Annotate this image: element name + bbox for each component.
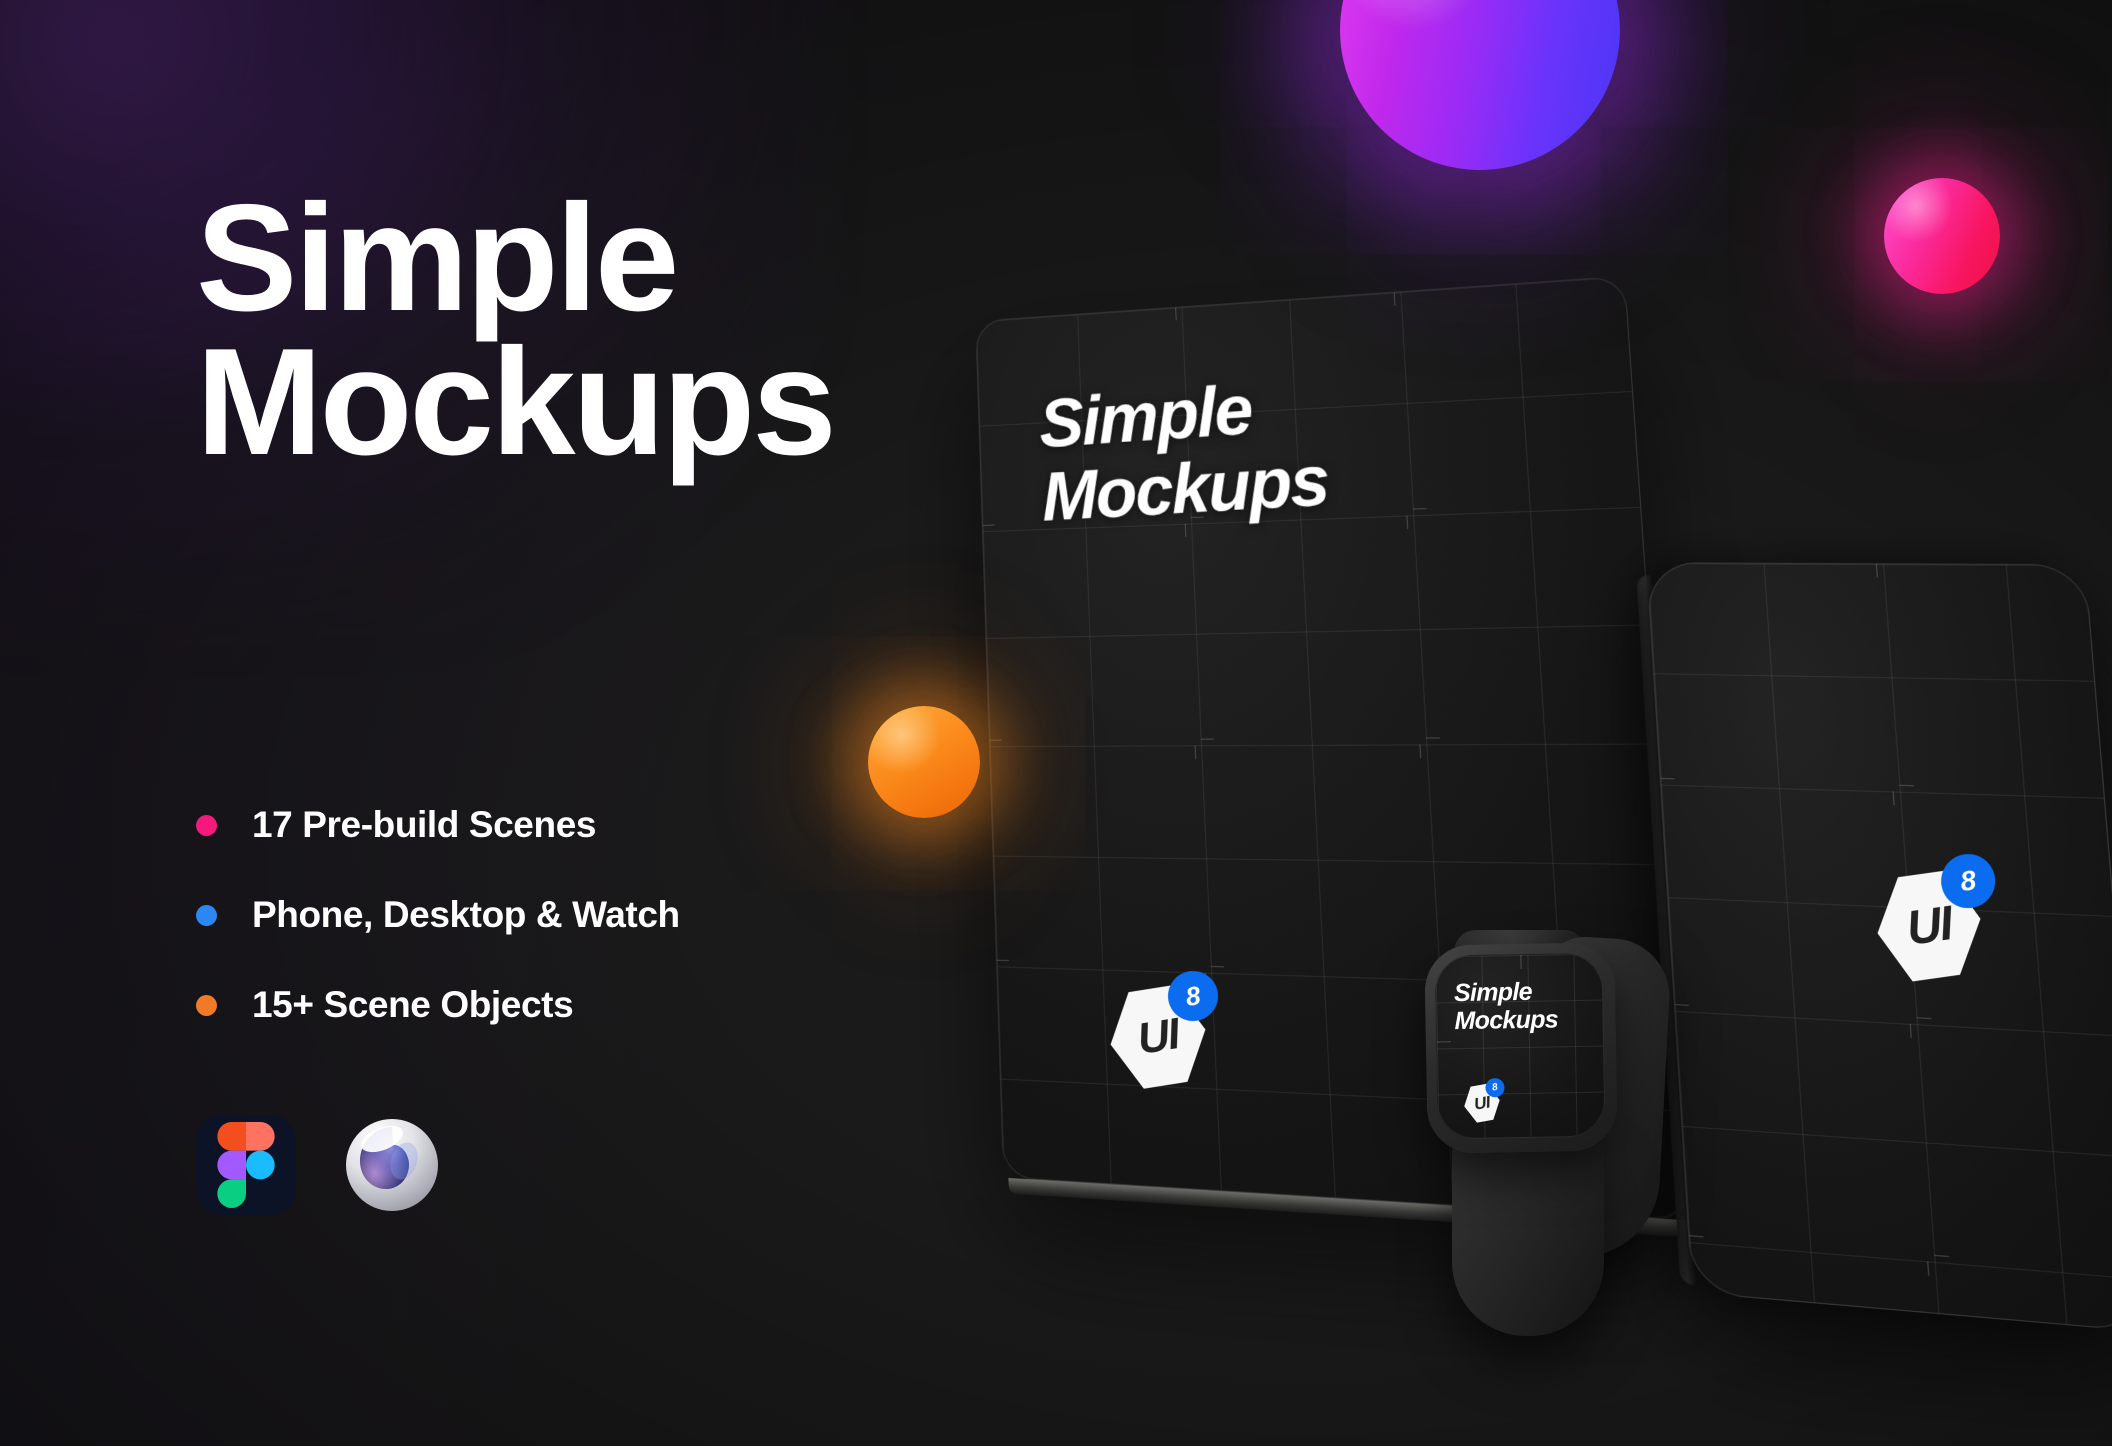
desktop-screen-label: Simple Mockups	[1038, 368, 1330, 535]
ui8-logo-desktop: UI 8	[1102, 978, 1213, 1096]
watch-mockup: Simple Mockups UI 8	[1378, 948, 1648, 1308]
ui8-logo-phone: UI 8	[1870, 863, 1989, 988]
bullet-orange-icon	[196, 995, 217, 1016]
left-content-column: Simple Mockups 17 Pre-build Scenes Phone…	[196, 0, 1056, 1446]
list-item: 15+ Scene Objects	[196, 960, 680, 1050]
list-item: Phone, Desktop & Watch	[196, 870, 680, 960]
feature-list: 17 Pre-build Scenes Phone, Desktop & Wat…	[196, 780, 680, 1050]
feature-label: Phone, Desktop & Watch	[252, 894, 680, 936]
watch-screen-label: Simple Mockups	[1454, 978, 1558, 1035]
ui8-wordmark: UI	[1134, 1009, 1182, 1065]
page-title: Simple Mockups	[196, 186, 834, 475]
cinema4d-logo-icon	[344, 1117, 440, 1213]
feature-label: 15+ Scene Objects	[252, 984, 573, 1026]
ui8-wordmark: UI	[1903, 896, 1954, 957]
list-item: 17 Pre-build Scenes	[196, 780, 680, 870]
sphere-pink-icon	[1884, 178, 2000, 294]
feature-label: 17 Pre-build Scenes	[252, 804, 596, 846]
watch-band-bottom	[1452, 1136, 1604, 1336]
bullet-blue-icon	[196, 905, 217, 926]
figma-logo-icon	[196, 1115, 296, 1215]
tool-logos	[196, 1115, 440, 1215]
cinema4d-glyph-icon	[344, 1117, 440, 1213]
ui8-logo-watch: UI 8	[1461, 1081, 1503, 1126]
watch-screen: Simple Mockups UI 8	[1434, 953, 1605, 1140]
watch-body: Simple Mockups UI 8	[1424, 942, 1618, 1153]
bullet-pink-icon	[196, 815, 217, 836]
figma-glyph-icon	[217, 1122, 275, 1208]
